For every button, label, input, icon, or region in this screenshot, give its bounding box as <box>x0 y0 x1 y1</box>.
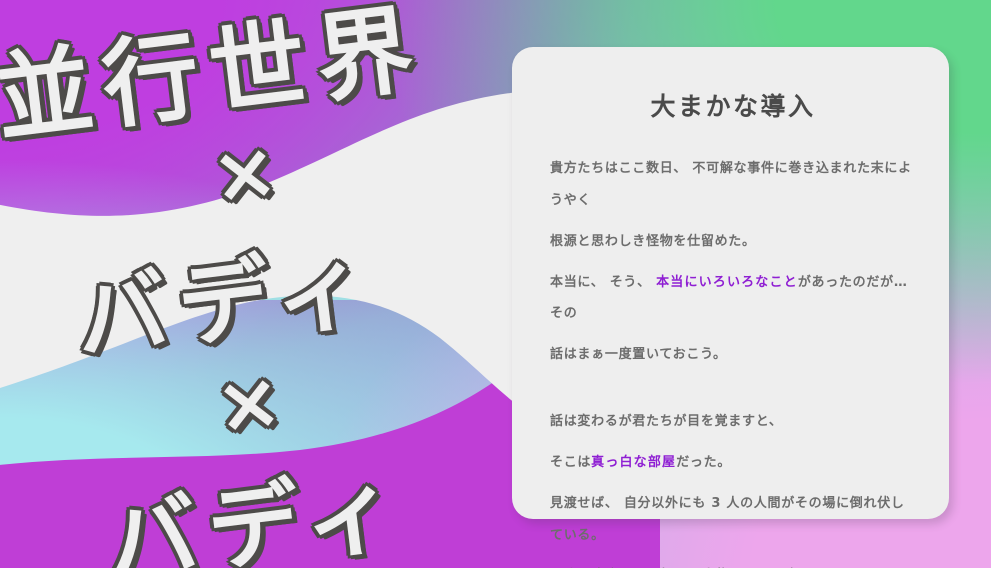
body-text: そこは <box>550 455 591 470</box>
highlight-purple: 本当にいろいろなこと <box>656 275 798 290</box>
body-text: 見渡せば、 自分以外にも 3 人の人間がその場に倒れ伏している。 <box>550 496 905 543</box>
intro-text-line: 貴方たちはここ数日、 不可解な事件に巻き込まれた末にようやく <box>550 153 916 217</box>
body-text: だった。 <box>676 455 731 470</box>
body-text: 根源と思わしき怪物を仕留めた。 <box>550 234 756 249</box>
intro-text-line: 見渡せば、 自分以外にも 3 人の人間がその場に倒れ伏している。 <box>550 488 916 552</box>
body-text: 本当に、 そう、 <box>550 275 656 290</box>
intro-text-line: 話は変わるが君たちが目を覚ますと、 <box>550 406 916 438</box>
intro-paragraph-2: 話は変わるが君たちが目を覚ますと、そこは真っ白な部屋だった。見渡せば、 自分以外… <box>550 406 916 568</box>
introduction-card: 大まかな導入 貴方たちはここ数日、 不可解な事件に巻き込まれた末にようやく根源と… <box>512 47 949 519</box>
body-text: 話は変わるが君たちが目を覚ますと、 <box>550 414 783 429</box>
intro-text-line: 話はまぁ一度置いておこう。 <box>550 339 916 371</box>
body-text: 話はまぁ一度置いておこう。 <box>550 347 727 362</box>
intro-text-line: 本当に、 そう、 本当にいろいろなことがあったのだが…その <box>550 267 916 331</box>
intro-paragraph-1: 貴方たちはここ数日、 不可解な事件に巻き込まれた末にようやく根源と思わしき怪物を… <box>550 153 916 371</box>
highlight-purple: 真っ白な部屋 <box>591 455 676 470</box>
intro-text-line: そこは真っ白な部屋だった。 <box>550 447 916 479</box>
intro-text-line: 根源と思わしき怪物を仕留めた。 <box>550 226 916 258</box>
scenario-key-visual: 並行世界 × バディ × バディ 大まかな導入 貴方たちはここ数日、 不可解な事… <box>0 0 991 568</box>
paragraph-spacer <box>550 380 916 406</box>
body-text: 貴方たちはここ数日、 不可解な事件に巻き込まれた末にようやく <box>550 161 912 208</box>
intro-text-line: 1 人は貴方のよく知った人物、 そして知らない、 <box>550 560 916 568</box>
card-title: 大まかな導入 <box>550 87 916 123</box>
